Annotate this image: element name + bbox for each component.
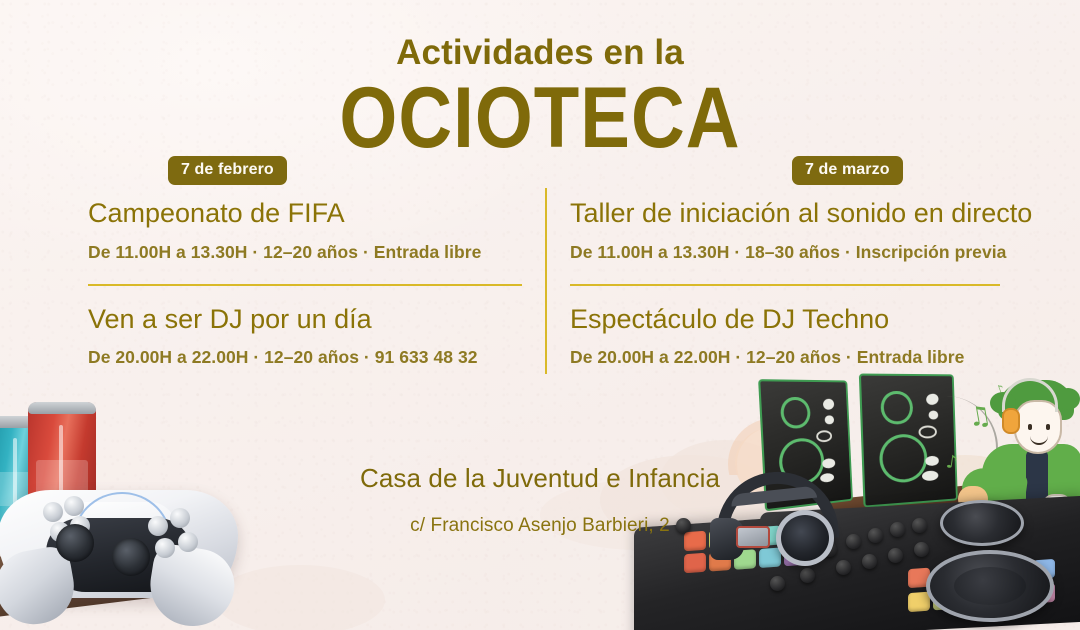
date-badge-march: 7 de marzo	[792, 156, 903, 185]
event-details: De 20.00H a 22.00H · 12–20 años · 91 633…	[88, 346, 528, 369]
event-item: Taller de iniciación al sonido en direct…	[570, 188, 1040, 264]
speaker-detail	[825, 415, 834, 424]
event-title: Espectáculo de DJ Techno	[570, 303, 1040, 337]
controller-thumbstick	[112, 538, 150, 576]
event-item: Ven a ser DJ por un día De 20.00H a 22.0…	[88, 303, 528, 370]
dj-knob	[770, 576, 785, 591]
speaker-detail	[821, 398, 835, 412]
event-separator	[88, 284, 522, 286]
speaker-tweeter	[779, 397, 810, 430]
page-title: OCIOTECA	[0, 74, 1080, 164]
character-headphone-cup	[1002, 408, 1020, 434]
dj-knob	[800, 568, 815, 583]
column-divider	[545, 188, 547, 374]
dj-jog-wheel	[926, 550, 1054, 622]
event-details: De 11.00H a 13.30H · 18–30 años · Inscri…	[570, 241, 1040, 264]
speaker-detail	[919, 426, 937, 439]
date-badge-february: 7 de febrero	[168, 156, 287, 185]
venue-name: Casa de la Juventud e Infancia	[0, 462, 1080, 495]
speaker-detail	[816, 430, 833, 443]
venue-address: c/ Francisco Asenjo Barbieri, 2	[0, 515, 1080, 537]
poster-footer: Casa de la Juventud e Infancia c/ Franci…	[0, 462, 1080, 537]
music-note-icon: ♫	[966, 402, 993, 432]
event-details: De 11.00H a 13.30H · 12–20 años · Entrad…	[88, 241, 528, 264]
character-smile	[1030, 436, 1048, 445]
dj-knob	[888, 548, 903, 563]
event-item: Espectáculo de DJ Techno De 20.00H a 22.…	[570, 303, 1040, 370]
speaker-detail	[929, 411, 939, 420]
speaker-tweeter	[881, 391, 913, 424]
dj-pad	[908, 592, 930, 613]
event-title: Taller de iniciación al sonido en direct…	[570, 197, 1040, 231]
speaker-detail	[925, 392, 940, 406]
poster-header: Actividades en la OCIOTECA	[0, 34, 1080, 150]
dj-pad	[684, 553, 706, 574]
events-section: 7 de febrero Campeonato de FIFA De 11.00…	[0, 156, 1080, 386]
controller-button	[155, 538, 175, 558]
events-column-february: 7 de febrero Campeonato de FIFA De 11.00…	[88, 156, 528, 369]
character-eye	[1046, 424, 1050, 430]
character-eye	[1028, 424, 1032, 430]
poster-canvas: Actividades en la OCIOTECA 7 de febrero …	[0, 0, 1080, 630]
events-column-march: 7 de marzo Taller de iniciación al sonid…	[570, 156, 1040, 369]
date-badge-row: 7 de marzo	[570, 156, 1040, 188]
event-title: Campeonato de FIFA	[88, 197, 528, 231]
can-lid	[28, 402, 96, 414]
event-item: Campeonato de FIFA De 11.00H a 13.30H · …	[88, 188, 528, 264]
dj-knob	[914, 542, 929, 557]
event-separator	[570, 284, 1000, 286]
event-details: De 20.00H a 22.00H · 12–20 años · Entrad…	[570, 346, 1040, 369]
title-subtitle: Actividades en la	[0, 34, 1080, 72]
date-badge-row: 7 de febrero	[88, 156, 528, 188]
event-title: Ven a ser DJ por un día	[88, 303, 528, 337]
dj-knob	[862, 554, 877, 569]
